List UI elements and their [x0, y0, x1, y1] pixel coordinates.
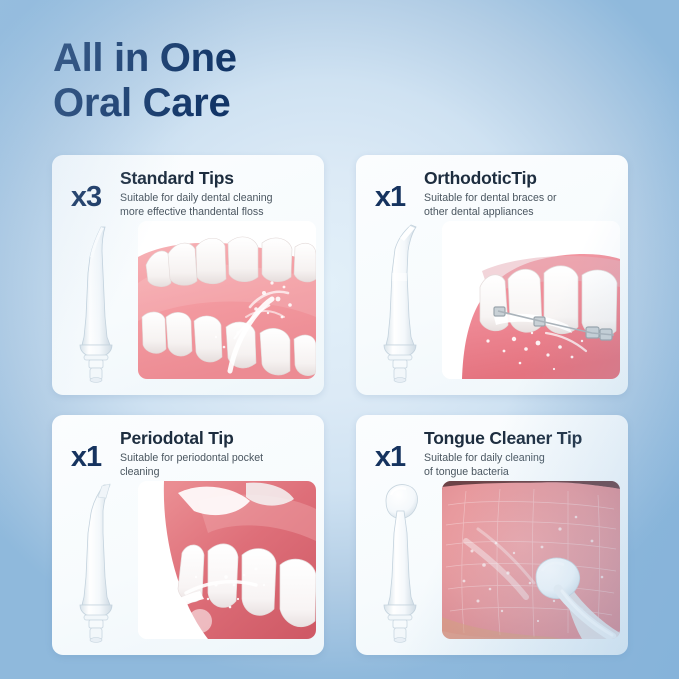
quantity-badge: x1 — [52, 429, 120, 472]
card-header: x1 OrthodoticTip Suitable for dental bra… — [356, 169, 618, 220]
card-periodotal-tip[interactable]: x1 Periodotal Tip Suitable for periodont… — [52, 415, 324, 655]
tips-grid: x3 Standard Tips Suitable for daily dent… — [52, 155, 628, 655]
card-orthodotic-tip[interactable]: x1 OrthodoticTip Suitable for dental bra… — [356, 155, 628, 395]
card-header: x1 Periodotal Tip Suitable for periodont… — [52, 429, 314, 480]
periodontal-tip-nozzle-icon — [60, 481, 132, 649]
standard-tip-nozzle-icon — [60, 221, 132, 389]
tongue-cleaning-photo — [442, 481, 620, 639]
card-title: Periodotal Tip — [120, 429, 310, 449]
braces-cleaning-photo — [442, 221, 620, 379]
card-title: Tongue Cleaner Tip — [424, 429, 614, 449]
tongue-cleaner-tip-nozzle-icon — [364, 481, 436, 649]
card-standard-tips[interactable]: x3 Standard Tips Suitable for daily dent… — [52, 155, 324, 395]
quantity-badge: x3 — [52, 169, 120, 212]
card-description: Suitable for daily dental cleaning more … — [120, 192, 310, 220]
card-text: Tongue Cleaner Tip Suitable for daily cl… — [424, 429, 618, 480]
card-text: Periodotal Tip Suitable for periodontal … — [120, 429, 314, 480]
card-text: OrthodoticTip Suitable for dental braces… — [424, 169, 618, 220]
card-description: Suitable for daily cleaning of tongue ba… — [424, 452, 614, 480]
card-description: Suitable for periodontal pocket cleaning — [120, 452, 310, 480]
orthodontic-tip-nozzle-icon — [364, 221, 436, 389]
quantity-badge: x1 — [356, 429, 424, 472]
periodontal-pocket-photo — [138, 481, 316, 639]
card-text: Standard Tips Suitable for daily dental … — [120, 169, 314, 220]
teeth-water-flossing-photo — [138, 221, 316, 379]
card-tongue-cleaner-tip[interactable]: x1 Tongue Cleaner Tip Suitable for daily… — [356, 415, 628, 655]
page-title: All in One Oral Care — [53, 36, 237, 126]
infographic-page: All in One Oral Care x3 Standard Tips Su… — [0, 0, 679, 679]
card-header: x3 Standard Tips Suitable for daily dent… — [52, 169, 314, 220]
card-header: x1 Tongue Cleaner Tip Suitable for daily… — [356, 429, 618, 480]
quantity-badge: x1 — [356, 169, 424, 212]
card-title: Standard Tips — [120, 169, 310, 189]
card-description: Suitable for dental braces or other dent… — [424, 192, 614, 220]
card-title: OrthodoticTip — [424, 169, 614, 189]
